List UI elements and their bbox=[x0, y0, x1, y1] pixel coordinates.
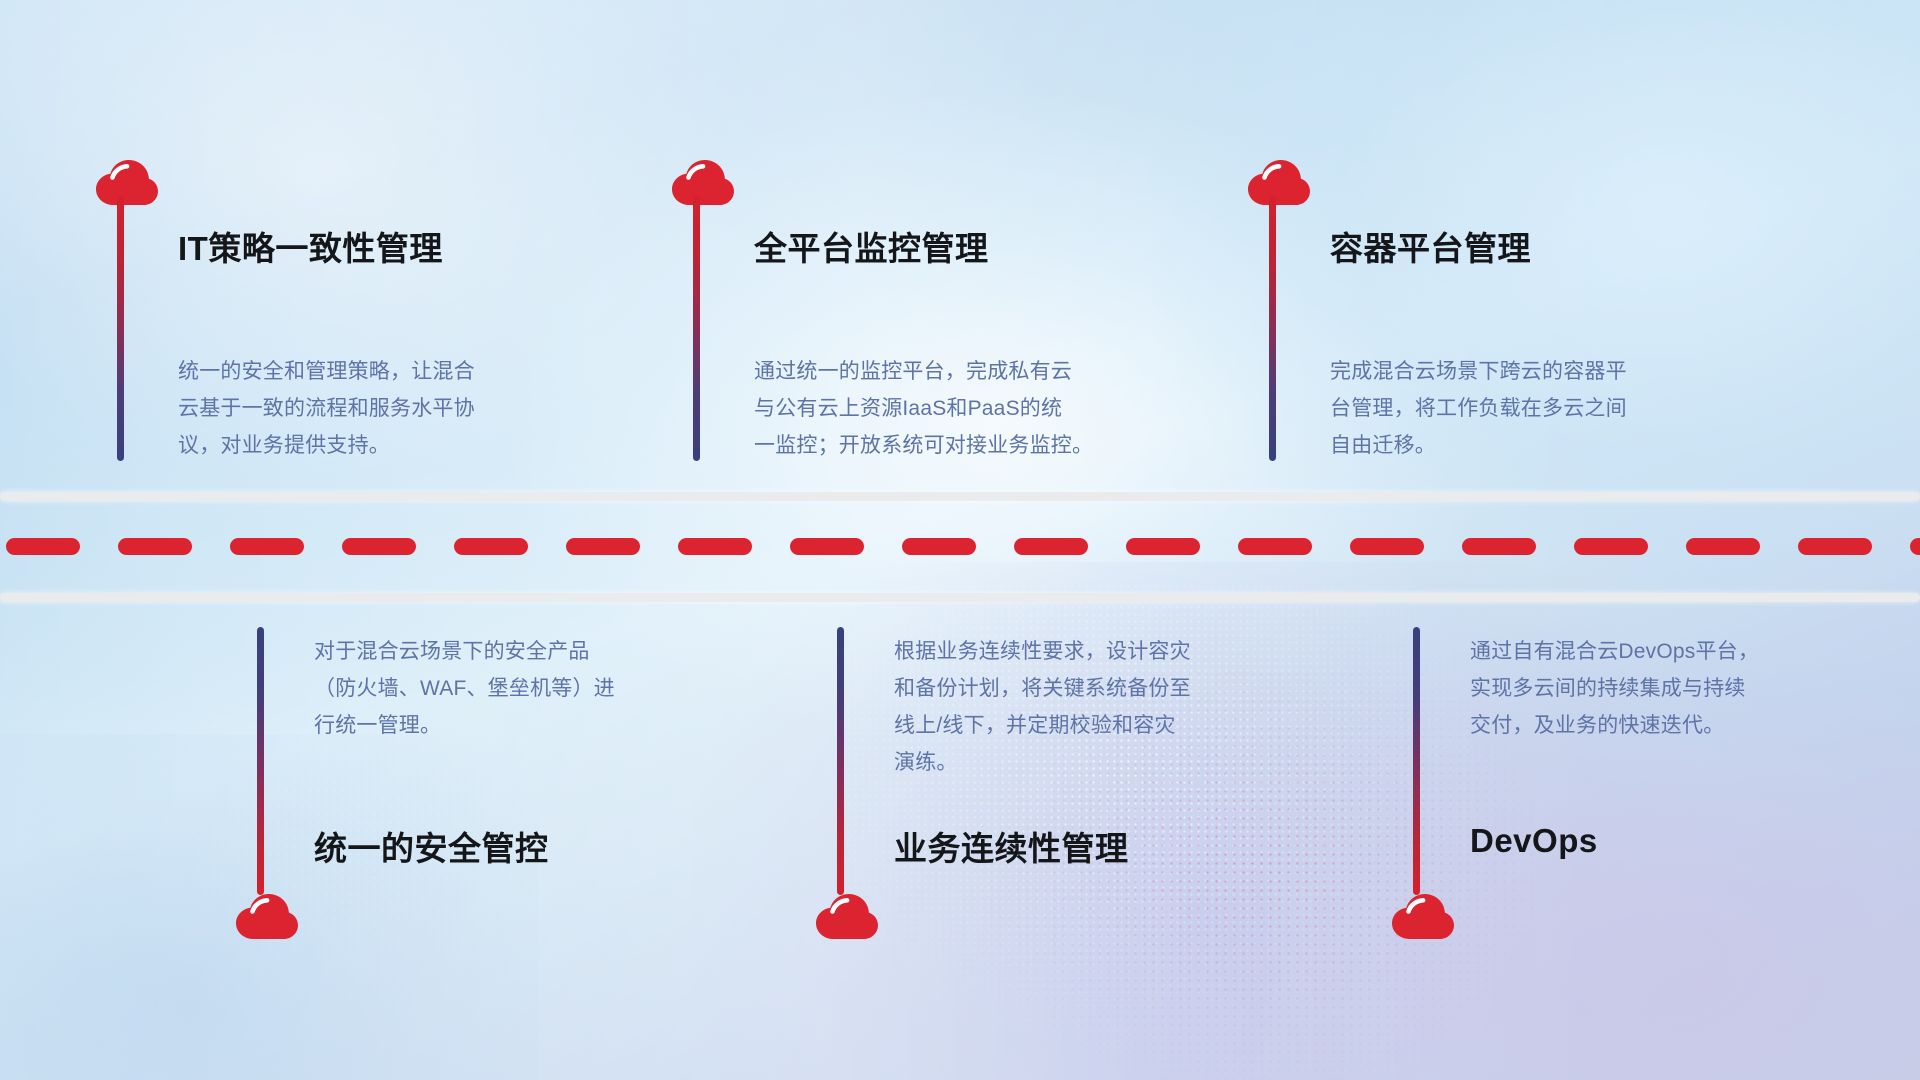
top-column-2-body: 通过统一的监控平台，完成私有云 与公有云上资源IaaS和PaaS的统 一监控；开… bbox=[754, 353, 1126, 464]
road-dash bbox=[678, 538, 752, 555]
body-line: 演练。 bbox=[894, 744, 1266, 781]
body-line: 通过统一的监控平台，完成私有云 bbox=[754, 353, 1126, 390]
road-dash bbox=[790, 538, 864, 555]
cloud-icon bbox=[1392, 894, 1454, 940]
body-line: 交付，及业务的快速迭代。 bbox=[1470, 707, 1842, 744]
road-dash bbox=[1350, 538, 1424, 555]
body-line: 统一的安全和管理策略，让混合 bbox=[178, 353, 550, 390]
road-dash bbox=[1462, 538, 1536, 555]
road-dash bbox=[1014, 538, 1088, 555]
cloud-icon bbox=[236, 894, 298, 940]
body-line: 与公有云上资源IaaS和PaaS的统 bbox=[754, 390, 1126, 427]
body-line: 行统一管理。 bbox=[314, 707, 686, 744]
bottom-column-2-heading: 业务连续性管理 bbox=[894, 822, 1129, 870]
road-dash bbox=[230, 538, 304, 555]
top-column-1-heading: IT策略一致性管理 bbox=[178, 222, 443, 270]
cloud-icon bbox=[672, 160, 734, 206]
body-line: 台管理，将工作负载在多云之间 bbox=[1330, 390, 1702, 427]
body-line: 云基于一致的流程和服务水平协 bbox=[178, 390, 550, 427]
bottom-column-3-heading: DevOps bbox=[1470, 822, 1598, 860]
road-dash bbox=[1798, 538, 1872, 555]
road-divider bbox=[0, 492, 1920, 602]
body-line: 通过自有混合云DevOps平台， bbox=[1470, 633, 1842, 670]
bottom-column-2-body: 根据业务连续性要求，设计容灾 和备份计划，将关键系统备份至 线上/线下，并定期校… bbox=[894, 633, 1266, 781]
body-line: 议，对业务提供支持。 bbox=[178, 427, 550, 464]
road-dash bbox=[1574, 538, 1648, 555]
bottom-column-1-body: 对于混合云场景下的安全产品 （防火墙、WAF、堡垒机等）进 行统一管理。 bbox=[314, 633, 686, 744]
bottom-column-3-body: 通过自有混合云DevOps平台， 实现多云间的持续集成与持续 交付，及业务的快速… bbox=[1470, 633, 1842, 744]
body-line: 对于混合云场景下的安全产品 bbox=[314, 633, 686, 670]
road-dash bbox=[1686, 538, 1760, 555]
road-dash bbox=[902, 538, 976, 555]
road-edge-bottom bbox=[0, 593, 1920, 602]
connector-stem bbox=[257, 627, 264, 895]
road-dashed-centerline bbox=[0, 538, 1920, 555]
road-dash bbox=[1126, 538, 1200, 555]
connector-stem bbox=[693, 196, 700, 461]
infographic-canvas: IT策略一致性管理 统一的安全和管理策略，让混合 云基于一致的流程和服务水平协 … bbox=[0, 0, 1920, 1080]
cloud-icon bbox=[96, 160, 158, 206]
road-dash bbox=[118, 538, 192, 555]
road-dash bbox=[1910, 538, 1920, 555]
road-dash bbox=[566, 538, 640, 555]
connector-stem bbox=[1413, 627, 1420, 895]
cloud-icon bbox=[1248, 160, 1310, 206]
body-line: 根据业务连续性要求，设计容灾 bbox=[894, 633, 1266, 670]
road-dash bbox=[342, 538, 416, 555]
connector-stem bbox=[1269, 196, 1276, 461]
body-line: 线上/线下，并定期校验和容灾 bbox=[894, 707, 1266, 744]
body-line: 实现多云间的持续集成与持续 bbox=[1470, 670, 1842, 707]
body-line: 完成混合云场景下跨云的容器平 bbox=[1330, 353, 1702, 390]
connector-stem bbox=[837, 627, 844, 895]
top-column-3-heading: 容器平台管理 bbox=[1330, 222, 1531, 270]
road-dash bbox=[1238, 538, 1312, 555]
road-dash bbox=[454, 538, 528, 555]
top-column-3-body: 完成混合云场景下跨云的容器平 台管理，将工作负载在多云之间 自由迁移。 bbox=[1330, 353, 1702, 464]
bottom-column-1-heading: 统一的安全管控 bbox=[314, 822, 549, 870]
body-line: 一监控；开放系统可对接业务监控。 bbox=[754, 427, 1126, 464]
top-column-1-body: 统一的安全和管理策略，让混合 云基于一致的流程和服务水平协 议，对业务提供支持。 bbox=[178, 353, 550, 464]
body-line: 自由迁移。 bbox=[1330, 427, 1702, 464]
body-line: （防火墙、WAF、堡垒机等）进 bbox=[314, 670, 686, 707]
top-column-2-heading: 全平台监控管理 bbox=[754, 222, 989, 270]
road-dash bbox=[6, 538, 80, 555]
cloud-icon bbox=[816, 894, 878, 940]
body-line: 和备份计划，将关键系统备份至 bbox=[894, 670, 1266, 707]
road-edge-top bbox=[0, 492, 1920, 501]
connector-stem bbox=[117, 196, 124, 461]
